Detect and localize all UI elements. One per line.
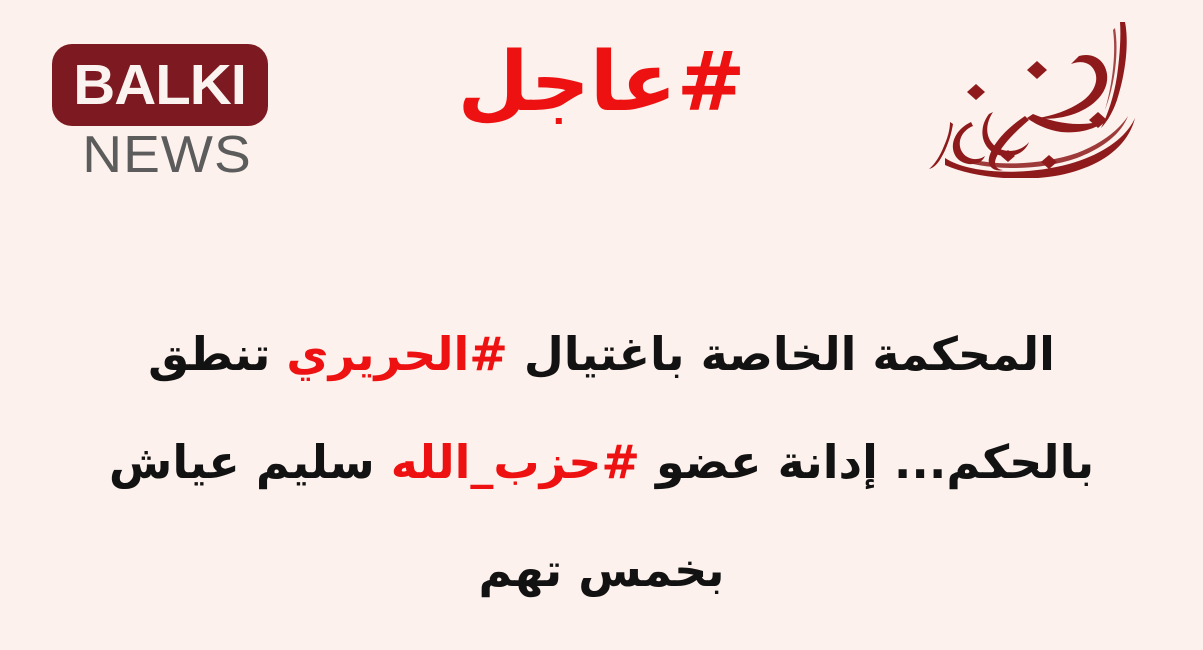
headline-line-2-text-a: بالحكم... إدانة عضو xyxy=(640,435,1094,489)
headline-hashtag-hezbollah[interactable]: #حزب_الله xyxy=(391,435,640,489)
headline: المحكمة الخاصة باغتيال #الحريري تنطق بال… xyxy=(0,300,1203,624)
headline-line-3-text-a: بخمس تهم xyxy=(478,543,724,597)
headline-line-1: المحكمة الخاصة باغتيال #الحريري تنطق xyxy=(40,300,1163,408)
header: BALKI NEWS #عاجل xyxy=(0,0,1203,200)
headline-hashtag-hariri[interactable]: #الحريري xyxy=(286,327,507,381)
breaking-news-card: BALKI NEWS #عاجل xyxy=(0,0,1203,650)
headline-line-2-text-b: سليم عياش xyxy=(109,435,391,489)
headline-line-1-text-b: تنطق xyxy=(148,327,286,381)
headline-line-1-text-a: المحكمة الخاصة باغتيال xyxy=(508,327,1055,381)
nastaliq-calligraphy-icon[interactable] xyxy=(929,8,1145,178)
breaking-news-tag-text: #عاجل xyxy=(458,38,746,128)
brand-sub-name-text: NEWS xyxy=(45,128,289,183)
headline-line-2: بالحكم... إدانة عضو #حزب_الله سليم عياش xyxy=(40,408,1163,516)
headline-line-3: بخمس تهم xyxy=(40,516,1163,624)
